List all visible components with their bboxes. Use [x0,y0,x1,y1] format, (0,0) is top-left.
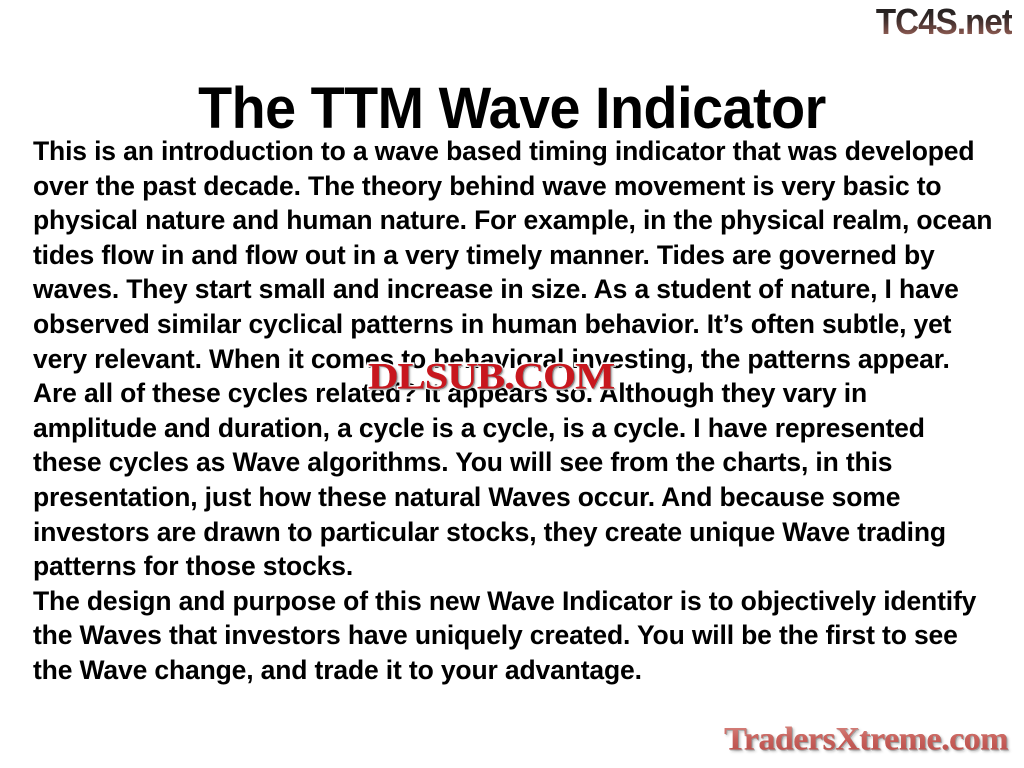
footer-logo-tradersxtreme: TradersXtreme.comTradersXtreme.com [724,722,1008,758]
footer-logo-fill: TradersXtreme.com [724,722,1008,758]
body-paragraph-2: Are all of these cycles related? It appe… [33,376,995,584]
slide-canvas: TC4S.net The TTM Wave Indicator This is … [0,0,1024,768]
body-paragraph-3: The design and purpose of this new Wave … [33,584,995,688]
page-title-text: The TTM Wave Indicator [198,77,826,141]
brand-logo-tc4s: TC4S.net [876,2,1012,42]
page-title: The TTM Wave Indicator [0,77,1024,141]
body-copy: This is an introduction to a wave based … [33,134,995,688]
dlsub-watermark-fill: DLSUB.COM [368,358,614,395]
dlsub-watermark: DLSUB.COMDLSUB.COM [368,358,614,395]
body-paragraph-1: This is an introduction to a wave based … [33,134,995,376]
